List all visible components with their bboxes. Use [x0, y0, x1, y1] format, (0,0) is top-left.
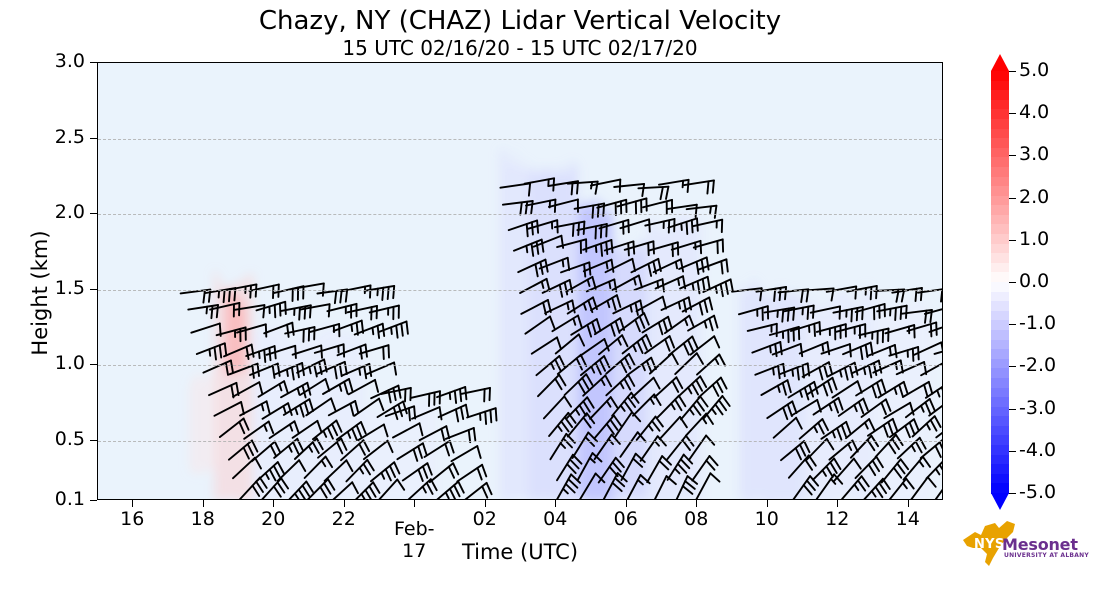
y-tick-mark [90, 440, 97, 441]
gridline [98, 441, 942, 442]
wind-barb [250, 285, 279, 299]
x-tick-label: 22 [314, 508, 374, 530]
colorbar-tick-label: -4.0 [1019, 439, 1056, 461]
colorbar-tick-label: 5.0 [1019, 59, 1049, 81]
wind-barb [181, 290, 211, 303]
nys-mesonet-logo: NYS Mesonet UNIVERSITY AT ALBANY [955, 518, 1095, 570]
x-tick-mark [485, 500, 486, 507]
colorbar-tick-label: -3.0 [1019, 397, 1056, 419]
y-tick-mark [90, 213, 97, 214]
x-tick-label: 20 [243, 508, 303, 530]
logo-nys-text: NYS [974, 537, 1005, 552]
plot-area [97, 62, 943, 500]
wind-barb [457, 465, 486, 482]
x-tick-label: 02 [455, 508, 515, 530]
y-tick-mark [90, 289, 97, 290]
x-tick-label: 10 [737, 508, 797, 530]
wind-barb [614, 184, 644, 196]
wind-barb [463, 483, 492, 500]
y-tick-label: 1.0 [25, 352, 85, 374]
colorbar-tick-label: 1.0 [1019, 228, 1049, 250]
figure-canvas: Chazy, NY (CHAZ) Lidar Vertical Velocity… [0, 0, 1101, 600]
wind-barb [437, 387, 466, 403]
colorbar-extend-max-icon [991, 54, 1009, 71]
wind-barb [439, 405, 469, 422]
wind-barb [370, 306, 399, 320]
colorbar-tick-mark [1009, 493, 1016, 494]
x-tick-label: 14 [878, 508, 938, 530]
wind-barb [451, 446, 480, 461]
wind-barb [257, 302, 286, 318]
logo-university-text: UNIVERSITY AT ALBANY [1004, 552, 1089, 559]
colorbar-tick-mark [1009, 409, 1016, 410]
x-tick-label: 06 [596, 508, 656, 530]
y-tick-mark [90, 62, 97, 63]
y-tick-label: 0.5 [25, 428, 85, 450]
x-tick-mark [908, 500, 909, 507]
x-tick-label: 08 [666, 508, 726, 530]
colorbar-tick-label: -5.0 [1019, 481, 1056, 503]
chart-subtitle: 15 UTC 02/16/20 - 15 UTC 02/17/20 [97, 36, 943, 60]
y-tick-label: 1.5 [25, 277, 85, 299]
colorbar-tick-mark [1009, 451, 1016, 452]
x-tick-mark [767, 500, 768, 507]
x-tick-label: 04 [525, 508, 585, 530]
colorbar-tick-mark [1009, 240, 1016, 241]
colorbar-tick-mark [1009, 366, 1016, 367]
contour-patch [648, 210, 701, 501]
y-tick-label: 0.1 [25, 488, 85, 510]
wind-barb [687, 206, 717, 218]
colorbar-tick-label: -2.0 [1019, 354, 1056, 376]
wind-barb [435, 482, 463, 500]
gridline [98, 365, 942, 366]
x-tick-mark [696, 500, 697, 507]
colorbar-tick-label: 4.0 [1019, 101, 1049, 123]
contour-patch [190, 361, 218, 475]
y-tick-label: 2.0 [25, 201, 85, 223]
x-tick-mark [414, 500, 415, 507]
x-tick-mark [203, 500, 204, 507]
colorbar-tick-label: 0.0 [1019, 270, 1049, 292]
page-title: Chazy, NY (CHAZ) Lidar Vertical Velocity [97, 6, 943, 36]
x-axis-label: Time (UTC) [97, 540, 943, 564]
y-tick-mark [90, 500, 97, 501]
colorbar-tick-mark [1009, 155, 1016, 156]
wind-barb [365, 286, 395, 300]
x-tick-mark [344, 500, 345, 507]
x-tick-label: 16 [102, 508, 162, 530]
gridline [98, 139, 942, 140]
barb-overlay [98, 63, 943, 500]
colorbar-extend-min-icon [991, 493, 1009, 510]
x-tick-label: 12 [807, 508, 867, 530]
wind-barb [934, 478, 943, 500]
y-tick-label: 3.0 [25, 50, 85, 72]
gridline [98, 290, 942, 291]
wind-barb [188, 305, 218, 318]
colorbar-tick-mark [1009, 113, 1016, 114]
x-tick-mark [837, 500, 838, 507]
colorbar-tick-mark [1009, 198, 1016, 199]
y-tick-mark [90, 138, 97, 139]
x-tick-label-day: Feb-17 [384, 518, 444, 562]
colorbar-tick-mark [1009, 282, 1016, 283]
x-tick-mark [273, 500, 274, 507]
colorbar-gradient [991, 71, 1009, 493]
colorbar-tick-label: 3.0 [1019, 143, 1049, 165]
colorbar-tick-mark [1009, 71, 1016, 72]
x-tick-mark [626, 500, 627, 507]
gridline [98, 214, 942, 215]
wind-barb [703, 396, 730, 419]
colorbar-tick-mark [1009, 324, 1016, 325]
contour-patch [500, 148, 528, 500]
colorbar-tick-label: 2.0 [1019, 186, 1049, 208]
x-tick-mark [555, 500, 556, 507]
x-tick-mark [132, 500, 133, 507]
y-tick-mark [90, 364, 97, 365]
colorbar [991, 62, 1009, 502]
x-tick-label: 18 [173, 508, 233, 530]
colorbar-tick-label: -1.0 [1019, 312, 1056, 334]
y-tick-label: 2.5 [25, 126, 85, 148]
wind-barb [467, 408, 496, 424]
